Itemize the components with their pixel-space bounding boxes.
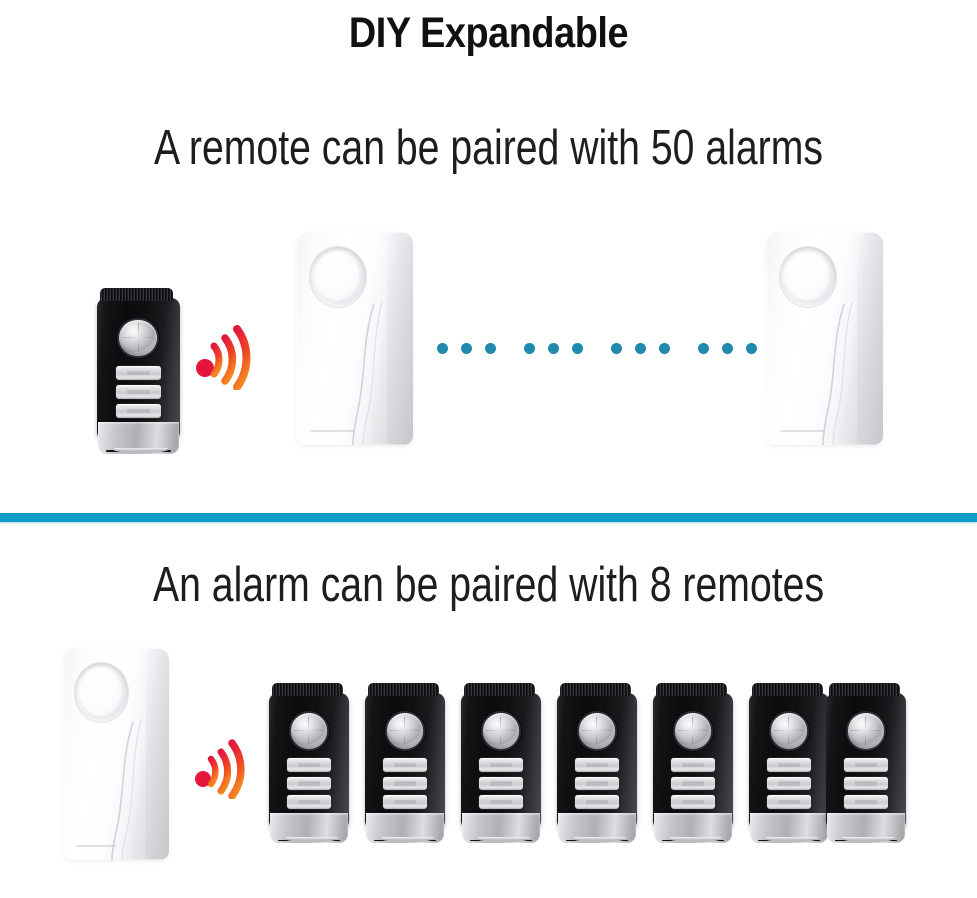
remote-ribbed-top [656,683,726,696]
section-divider [0,513,977,522]
remote-button-bottom[interactable] [575,795,618,809]
remote-button-middle[interactable] [671,777,714,791]
connector-dot [611,343,622,354]
wireless-signal-icon [192,316,262,390]
remote-button-bottom[interactable] [383,795,426,809]
remote-button-top[interactable] [383,758,426,772]
alarm-unit-source[interactable] [63,648,169,860]
dot-group [611,343,670,354]
remote-control-4[interactable] [557,683,637,843]
remote-button-middle[interactable] [383,777,426,791]
remote-ribbed-top [272,683,342,696]
remote-control-2[interactable] [365,683,445,843]
remote-key-ring-loop [762,837,819,842]
connector-dot [635,343,646,354]
round-chrome-dial-button[interactable] [291,713,327,748]
alarm-bottom-seam [310,430,354,432]
connector-dot [659,343,670,354]
remote-button-bottom[interactable] [116,404,161,418]
pairing-dotted-connector [437,343,757,354]
round-chrome-dial-button[interactable] [119,320,156,357]
connector-dot [437,343,448,354]
remote-control-1[interactable] [269,683,349,843]
connector-dot [698,343,709,354]
connector-dot [722,343,733,354]
remote-button-middle[interactable] [479,777,522,791]
remote-button-bottom[interactable] [844,795,887,809]
alarm-styling-curve [63,648,169,860]
alarm-styling-curve [296,232,413,445]
remote-ribbed-top [829,683,899,696]
remote-control-6[interactable] [749,683,829,843]
remote-chrome-base [98,422,179,454]
remote-ribbed-top [464,683,534,696]
remote-button-middle[interactable] [287,777,330,791]
remote-key-ring-loop [111,448,170,453]
remote-chrome-base [750,813,828,843]
wireless-signal-icon [192,731,256,799]
remote-button-bottom[interactable] [479,795,522,809]
remote-chrome-base [827,813,905,843]
remote-button-middle[interactable] [575,777,618,791]
remote-chrome-base [270,813,348,843]
dot-group [698,343,757,354]
round-chrome-dial-button[interactable] [483,713,519,748]
section-2-caption: An alarm can be paired with 8 remotes [98,557,880,613]
connector-dot [485,343,496,354]
remote-button-middle[interactable] [116,385,161,399]
remote-button-top[interactable] [844,758,887,772]
remote-button-top[interactable] [767,758,810,772]
connector-dot [524,343,535,354]
alarm-styling-curve [766,232,883,445]
remote-button-top[interactable] [479,758,522,772]
remote-key-ring-loop [282,837,339,842]
remote-key-ring-loop [378,837,435,842]
connector-dot [746,343,757,354]
remote-button-bottom[interactable] [767,795,810,809]
remote-button-bottom[interactable] [671,795,714,809]
remote-control-3[interactable] [461,683,541,843]
remote-control-7[interactable] [826,683,906,843]
alarm-unit-last[interactable] [766,232,883,445]
remote-chrome-base [558,813,636,843]
round-chrome-dial-button[interactable] [848,713,884,748]
remote-key-ring-loop [474,837,531,842]
remote-button-bottom[interactable] [287,795,330,809]
alarm-bottom-seam [780,430,824,432]
dot-group [524,343,583,354]
remote-button-top[interactable] [671,758,714,772]
remote-button-top[interactable] [287,758,330,772]
remote-button-middle[interactable] [844,777,887,791]
remote-control[interactable] [97,288,180,454]
section-1-caption: A remote can be paired with 50 alarms [98,120,880,176]
alarm-unit-first[interactable] [296,232,413,445]
round-chrome-dial-button[interactable] [675,713,711,748]
round-chrome-dial-button[interactable] [579,713,615,748]
remote-button-top[interactable] [575,758,618,772]
remote-ribbed-top [560,683,630,696]
page-title: DIY Expandable [59,8,919,58]
infographic-page: DIY Expandable A remote can be paired wi… [0,0,977,898]
remote-key-ring-loop [839,837,896,842]
remote-key-ring-loop [666,837,723,842]
dot-group [437,343,496,354]
connector-dot [572,343,583,354]
connector-dot [461,343,472,354]
remote-ribbed-top [752,683,822,696]
remote-chrome-base [366,813,444,843]
remote-button-top[interactable] [116,366,161,380]
connector-dot [548,343,559,354]
remote-ribbed-top [368,683,438,696]
remote-chrome-base [654,813,732,843]
remote-key-ring-loop [570,837,627,842]
alarm-bottom-seam [76,845,116,847]
remote-chrome-base [462,813,540,843]
round-chrome-dial-button[interactable] [387,713,423,748]
remote-ribbed-top [100,288,173,301]
round-chrome-dial-button[interactable] [771,713,807,748]
remote-control-5[interactable] [653,683,733,843]
remote-button-middle[interactable] [767,777,810,791]
